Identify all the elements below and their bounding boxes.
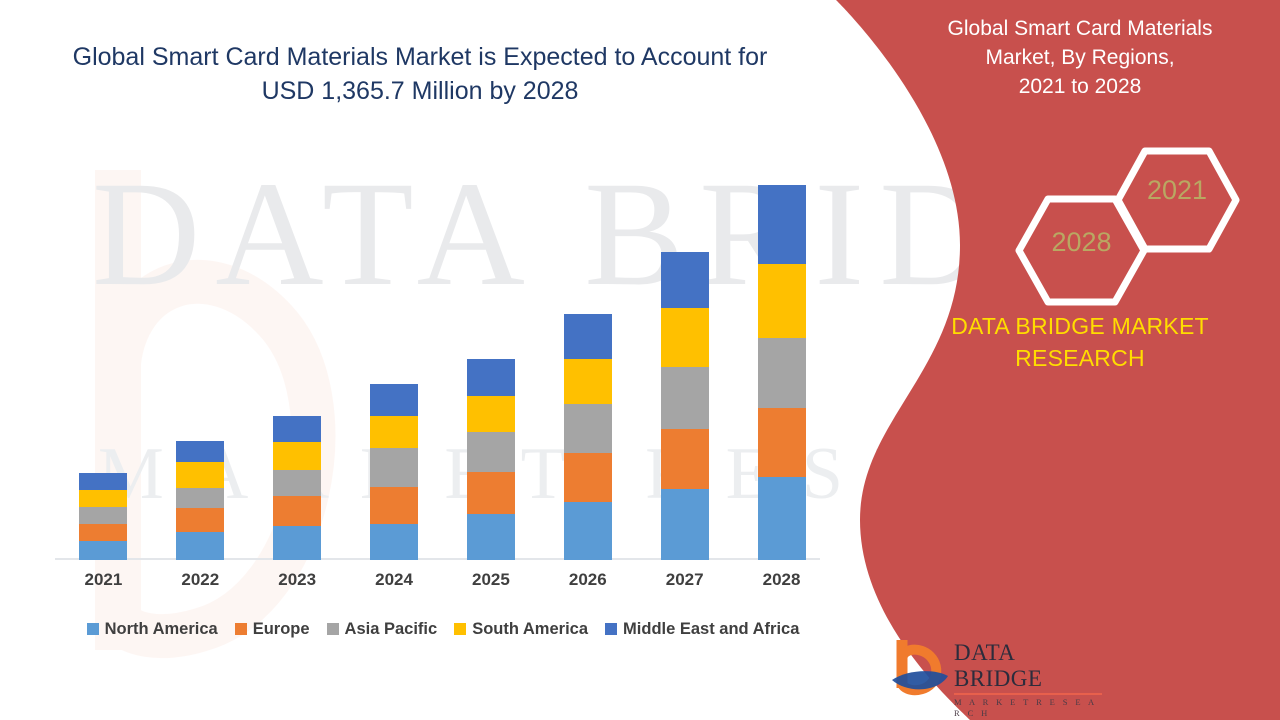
bar-segment — [758, 338, 806, 408]
bar-group — [661, 252, 709, 560]
bar-segment — [176, 441, 224, 462]
data-bridge-logo: DATA BRIDGE M A R K E T R E S E A R C H — [890, 634, 1105, 698]
bar-segment — [273, 442, 321, 470]
chart-legend: North AmericaEuropeAsia PacificSouth Ame… — [48, 616, 838, 642]
logo-sub-text: M A R K E T R E S E A R C H — [954, 697, 1104, 719]
bar-segment — [661, 429, 709, 489]
panel-title-line-3: 2021 to 2028 — [880, 72, 1280, 101]
brand-line-1: DATA BRIDGE MARKET — [880, 310, 1280, 342]
legend-swatch-icon — [454, 623, 466, 635]
brand-line-2: RESEARCH — [880, 342, 1280, 374]
bar-segment — [467, 396, 515, 433]
bar-group — [273, 416, 321, 560]
page-title-line-1: Global Smart Card Materials Market is Ex… — [40, 40, 800, 74]
bar-segment — [176, 532, 224, 560]
x-axis-label: 2026 — [552, 570, 624, 590]
legend-item-middle-east-and-africa[interactable]: Middle East and Africa — [605, 620, 799, 639]
stacked-bar-chart — [55, 150, 830, 560]
legend-label: Middle East and Africa — [623, 620, 799, 639]
panel-title: Global Smart Card Materials Market, By R… — [880, 14, 1280, 101]
bar-group — [176, 441, 224, 560]
bar-segment — [564, 404, 612, 452]
bar-segment — [79, 524, 127, 541]
bar-segment — [758, 185, 806, 263]
bar-segment — [758, 477, 806, 560]
bar-segment — [273, 470, 321, 496]
legend-swatch-icon — [327, 623, 339, 635]
bar-segment — [370, 416, 418, 448]
bar-group — [79, 473, 127, 560]
x-axis-label: 2023 — [261, 570, 333, 590]
bar-segment — [273, 526, 321, 560]
panel-title-line-1: Global Smart Card Materials — [880, 14, 1280, 43]
bar-group — [564, 314, 612, 560]
bar-segment — [273, 496, 321, 526]
x-axis-label: 2025 — [455, 570, 527, 590]
bar-segment — [564, 359, 612, 404]
legend-item-asia-pacific[interactable]: Asia Pacific — [327, 620, 438, 639]
legend-label: South America — [472, 620, 588, 639]
bar-segment — [176, 462, 224, 488]
bar-segment — [370, 487, 418, 524]
legend-label: Europe — [253, 620, 310, 639]
bar-segment — [370, 524, 418, 561]
bar-segment — [79, 541, 127, 560]
brand-name: DATA BRIDGE MARKET RESEARCH — [880, 310, 1280, 374]
bar-segment — [661, 308, 709, 367]
bar-segment — [273, 416, 321, 442]
x-axis-label: 2024 — [358, 570, 430, 590]
bar-segment — [564, 453, 612, 502]
bar-segment — [467, 359, 515, 396]
legend-item-north-america[interactable]: North America — [87, 620, 218, 639]
bar-segment — [176, 508, 224, 532]
bar-segment — [564, 314, 612, 359]
bar-segment — [758, 408, 806, 478]
bar-segment — [467, 432, 515, 472]
bar-segment — [79, 490, 127, 507]
logo-main-text: DATA BRIDGE — [954, 640, 1104, 692]
bar-segment — [661, 367, 709, 429]
legend-swatch-icon — [605, 623, 617, 635]
logo-divider — [954, 693, 1102, 695]
bar-segment — [661, 252, 709, 308]
page-title-line-2: USD 1,365.7 Million by 2028 — [40, 74, 800, 108]
bar-segment — [467, 472, 515, 514]
bar-segment — [370, 384, 418, 416]
bar-segment — [79, 507, 127, 523]
bar-segment — [79, 473, 127, 490]
bar-segment — [176, 488, 224, 508]
chart-x-axis-labels: 20212022202320242025202620272028 — [55, 570, 830, 598]
hexagon-2021-label: 2021 — [1112, 175, 1242, 206]
x-axis-label: 2021 — [67, 570, 139, 590]
panel-title-line-2: Market, By Regions, — [880, 43, 1280, 72]
data-bridge-logo-icon — [890, 636, 952, 696]
infographic-canvas: DATA BRIDGE MARKET RESEARCH Global Smart… — [0, 0, 1280, 720]
x-axis-label: 2022 — [164, 570, 236, 590]
legend-swatch-icon — [235, 623, 247, 635]
hexagon-2021: 2021 — [1112, 145, 1242, 255]
bar-segment — [370, 448, 418, 487]
legend-item-europe[interactable]: Europe — [235, 620, 310, 639]
legend-label: North America — [105, 620, 218, 639]
bar-group — [467, 359, 515, 560]
data-bridge-logo-text: DATA BRIDGE M A R K E T R E S E A R C H — [954, 640, 1104, 719]
bar-segment — [467, 514, 515, 560]
legend-item-south-america[interactable]: South America — [454, 620, 588, 639]
legend-swatch-icon — [87, 623, 99, 635]
bar-segment — [758, 264, 806, 338]
x-axis-label: 2027 — [649, 570, 721, 590]
bar-segment — [564, 502, 612, 560]
bar-segment — [661, 489, 709, 560]
page-title: Global Smart Card Materials Market is Ex… — [40, 40, 800, 108]
bar-group — [370, 384, 418, 560]
legend-label: Asia Pacific — [345, 620, 438, 639]
bar-group — [758, 185, 806, 560]
year-hexagons: 2028 2021 — [1012, 145, 1242, 300]
